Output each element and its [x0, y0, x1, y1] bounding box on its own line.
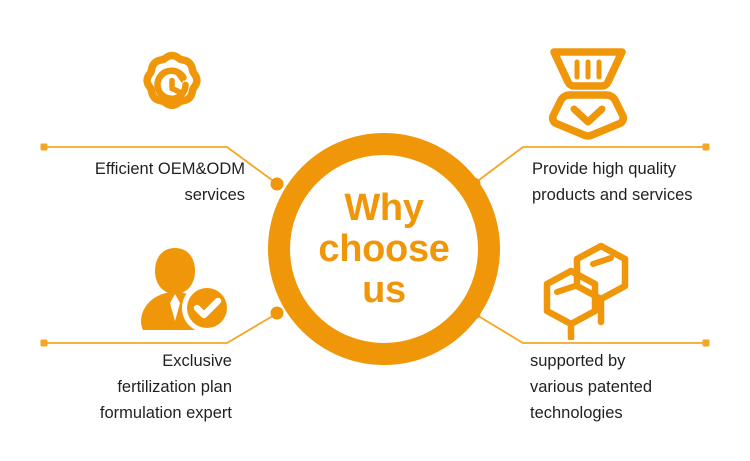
- gear-refresh-icon: [131, 48, 213, 130]
- medal-badge-icon: [542, 42, 634, 140]
- callout-text-bottom-right: supported by various patented technologi…: [530, 348, 745, 426]
- badge-pentagon: [553, 95, 624, 136]
- chevron-down-icon: [574, 109, 602, 122]
- why-choose-us-infographic: Why choose us: [0, 0, 750, 461]
- callout-text-top-left: Efficient OEM&ODM services: [20, 156, 245, 208]
- person-head: [155, 248, 195, 294]
- refresh-arrowhead: [175, 73, 186, 84]
- hexagon-lower: [547, 271, 595, 324]
- callout-text-bottom-left: Exclusive fertilization plan formulation…: [20, 348, 232, 426]
- hexagon-upper: [577, 246, 625, 299]
- bond-bar-upper: [593, 258, 611, 264]
- molecule-hexagon-icon: [535, 242, 639, 340]
- ribbon-bars: [577, 62, 599, 77]
- verified-person-icon: [133, 246, 231, 330]
- clock-hands: [172, 81, 179, 92]
- callout-text-top-right: Provide high quality products and servic…: [532, 156, 742, 208]
- bond-bar-lower: [557, 286, 575, 292]
- center-title: Why choose us: [268, 133, 500, 365]
